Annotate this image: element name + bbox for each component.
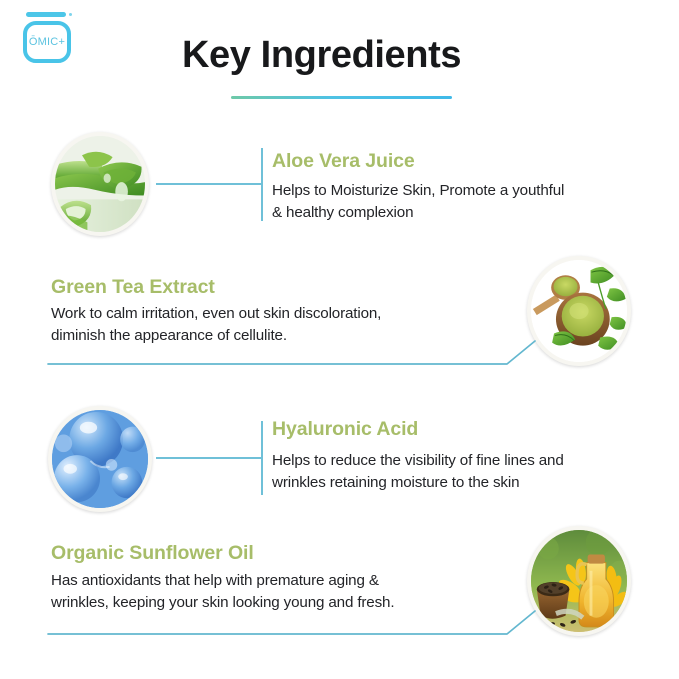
aloe-vera-leaves-photo [55, 136, 145, 232]
description-line: & healthy complexion [272, 202, 642, 224]
connector-line-green-tea [46, 336, 542, 370]
ingredient-title-green-tea: Green Tea Extract [51, 276, 215, 299]
text-accent-bar-aloe-vera [261, 148, 263, 221]
description-line: wrinkles retaining moisture to the skin [272, 472, 652, 494]
ingredient-image-hyaluronic-acid [48, 406, 152, 512]
description-line: Has antioxidants that help with prematur… [51, 570, 531, 592]
connector-line-sunflower-oil [46, 606, 542, 640]
blue-water-droplets-photo [52, 410, 148, 508]
ingredient-image-aloe-vera [51, 132, 149, 236]
sunflower-oil-bottle-photo [531, 530, 627, 632]
description-line: Helps to reduce the visibility of fine l… [272, 450, 652, 472]
text-accent-bar-hyaluronic-acid [261, 421, 263, 495]
description-line: Helps to Moisturize Skin, Promote a yout… [272, 180, 642, 202]
ingredient-image-sunflower-oil [527, 526, 631, 636]
logo-trademark-dot-icon [69, 13, 72, 16]
brand-logo: ŌMIC+ [16, 12, 82, 70]
ingredient-description-aloe-vera: Helps to Moisturize Skin, Promote a yout… [272, 180, 642, 223]
logo-frame-icon: ŌMIC+ [23, 21, 71, 63]
ingredient-title-hyaluronic-acid: Hyaluronic Acid [272, 418, 418, 441]
connector-line-aloe-vera [156, 183, 262, 185]
description-line: Work to calm irritation, even out skin d… [51, 303, 521, 325]
ingredient-title-aloe-vera: Aloe Vera Juice [272, 150, 415, 173]
logo-bar-icon [26, 12, 66, 17]
ingredient-description-hyaluronic-acid: Helps to reduce the visibility of fine l… [272, 450, 652, 493]
key-ingredients-infographic: ŌMIC+ Key Ingredients [0, 0, 679, 679]
connector-line-hyaluronic-acid [156, 457, 262, 459]
ingredient-image-green-tea [527, 256, 631, 366]
page-title: Key Ingredients [182, 36, 602, 76]
title-underline-divider [231, 96, 452, 99]
logo-wordmark: ŌMIC+ [27, 25, 67, 59]
ingredient-title-sunflower-oil: Organic Sunflower Oil [51, 542, 254, 565]
green-tea-powder-bowl-photo [531, 260, 627, 362]
